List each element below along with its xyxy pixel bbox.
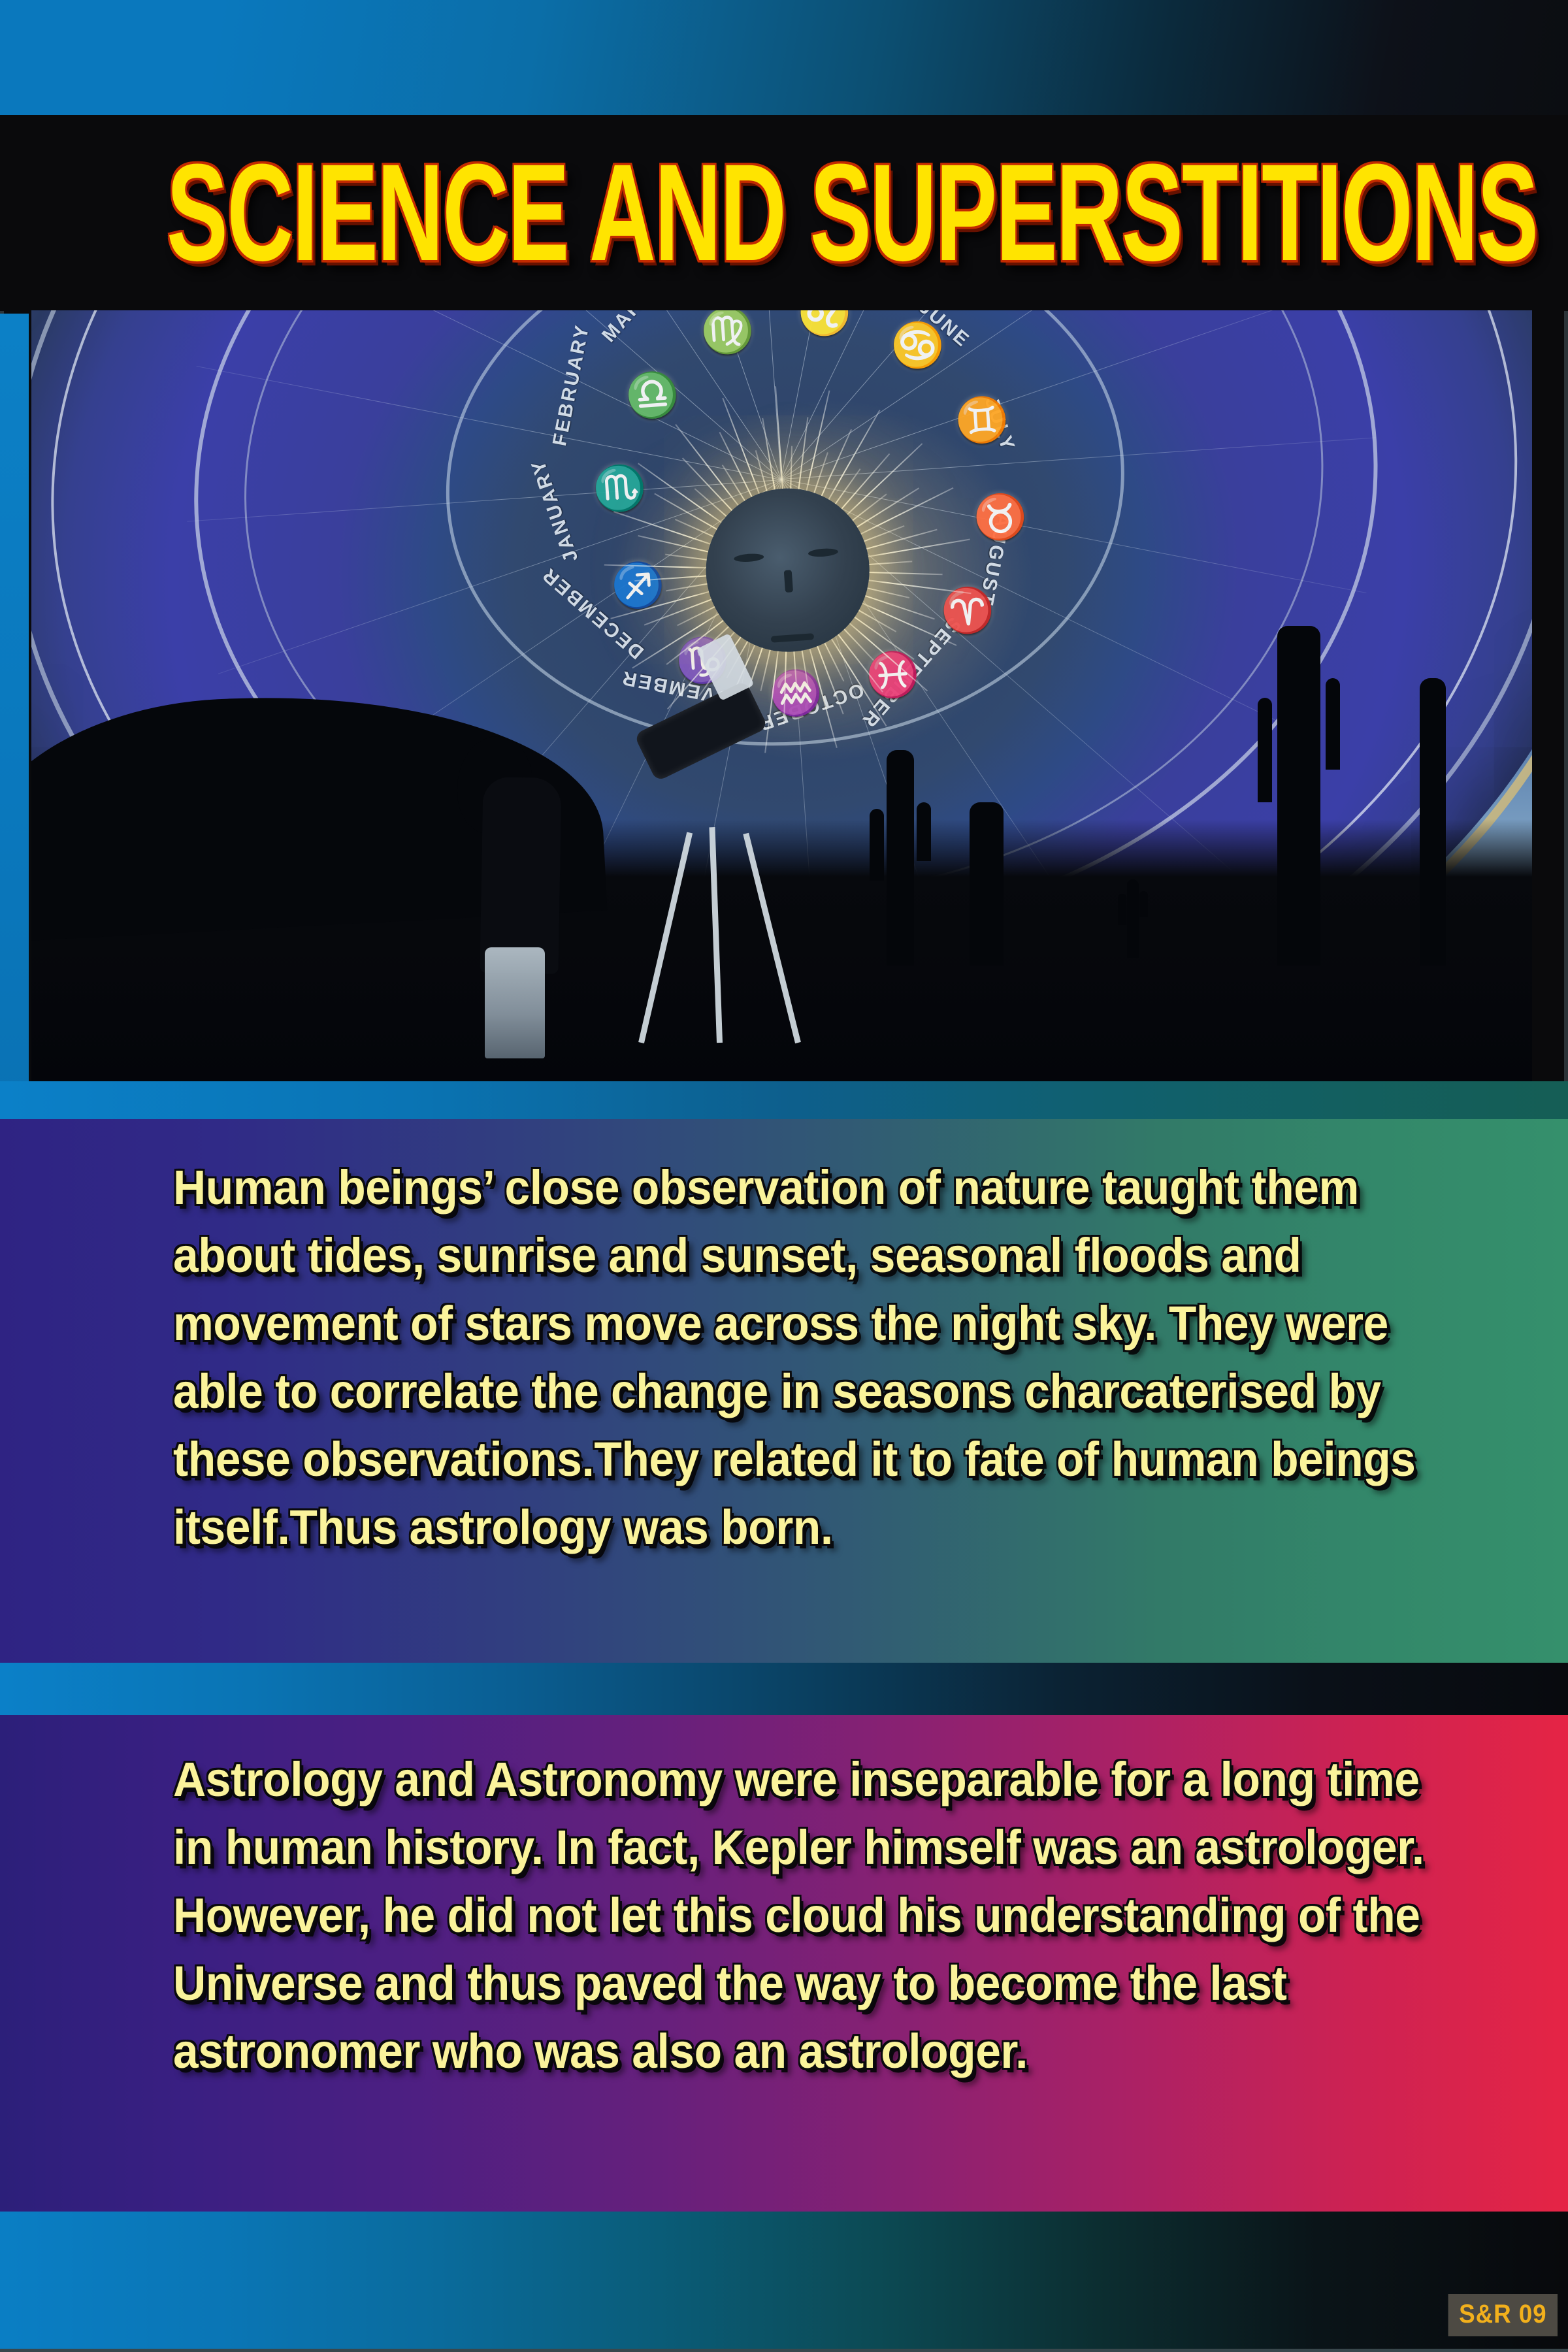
- tripod-leg: [638, 832, 693, 1043]
- cactus-arm: [1118, 894, 1126, 925]
- cactus-arm: [1258, 698, 1272, 802]
- tripod-leg: [743, 833, 801, 1043]
- observer-silhouette: [480, 777, 561, 974]
- cactus-arm: [1139, 891, 1148, 917]
- cactus-arm: [917, 802, 931, 861]
- title-bar: SCIENCE AND SUPERSTITIONS: [0, 115, 1568, 311]
- zodiac-glyph-pisces: ♓: [864, 648, 921, 703]
- cactus-arm: [870, 809, 884, 881]
- sun-eye-left: [734, 553, 764, 563]
- status-badge: S&R 09: [1448, 2294, 1558, 2336]
- cactus-silhouette: [1277, 626, 1320, 966]
- cactus-silhouette-small: [1127, 879, 1139, 958]
- zodiac-glyph-cancer: ♋: [889, 319, 946, 374]
- separator-band-upper: [0, 1081, 1568, 1119]
- poster-page: SCIENCE AND SUPERSTITIONS MAYJUNEJULYAUG…: [0, 0, 1568, 2352]
- paragraph-two: Astrology and Astronomy were inseparable…: [173, 1746, 1432, 2085]
- separator-band-middle: [0, 1663, 1568, 1715]
- observer-trousers: [485, 947, 545, 1058]
- hero-photo: MAYJUNEJULYAUGUSTSEPTEMBEROCTOBERNOVEMBE…: [31, 310, 1532, 1081]
- zodiac-glyph-scorpio: ♏: [591, 462, 648, 517]
- zodiac-glyph-gemini: ♊: [954, 393, 1011, 448]
- frame-bottom-edge: [0, 2349, 1568, 2352]
- bottom-blue-band: S&R 09: [0, 2212, 1568, 2352]
- tripod-leg: [709, 827, 723, 1043]
- cactus-silhouette: [1420, 678, 1446, 966]
- telescope-tripod: [632, 827, 815, 1043]
- page-title: SCIENCE AND SUPERSTITIONS: [167, 144, 1537, 282]
- paragraph-one: Human beings’ close observation of natur…: [173, 1154, 1432, 1561]
- zodiac-glyph-libra: ♎: [624, 368, 681, 423]
- top-blue-band: [0, 0, 1568, 115]
- zodiac-glyph-virgo: ♍: [699, 310, 756, 359]
- cactus-silhouette: [970, 802, 1004, 966]
- left-blue-accent-strip: [0, 314, 29, 1114]
- cactus-arm: [1326, 678, 1340, 770]
- zodiac-glyph-leo: ♌: [796, 310, 853, 340]
- sun-eye-right: [808, 548, 839, 558]
- cactus-silhouette: [887, 750, 914, 966]
- zodiac-glyph-taurus: ♉: [972, 491, 1029, 546]
